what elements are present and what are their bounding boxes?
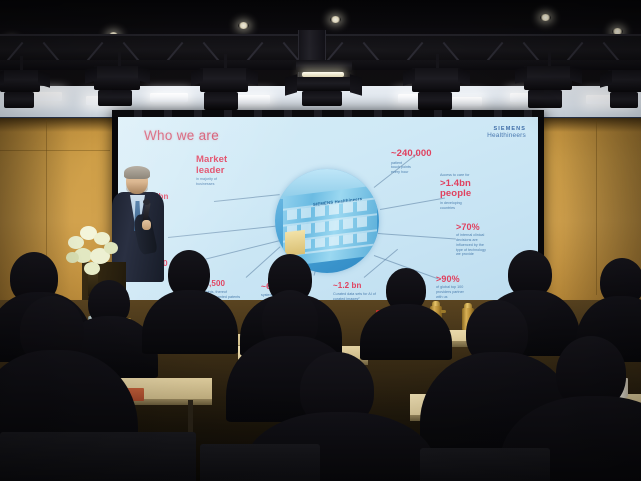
callout-value: Market leader — [196, 155, 227, 176]
ceiling-spot-light — [540, 14, 551, 21]
stage-light-fixture — [0, 70, 44, 106]
presenter-face-shading — [126, 182, 148, 194]
presenter-hair — [124, 166, 150, 179]
flower-cluster — [66, 252, 79, 263]
callout-value: >70% — [456, 222, 486, 232]
connector-line — [168, 225, 279, 238]
strip-light — [150, 93, 188, 102]
callout-clinical-decisions: >70%of internal clinical decisions are i… — [456, 222, 486, 257]
callout-description: in majority of businesses — [196, 177, 227, 187]
stage-light-fixture — [94, 66, 146, 106]
conference-photo-scene: Who we are SIEMENS Healthineers — [0, 0, 641, 481]
connector-line — [378, 233, 456, 239]
callout-access-to-care: Access to care for>1.4bn peoplein develo… — [440, 173, 471, 211]
callout-description: in developing countries — [440, 201, 471, 211]
stage-light-fixture-center — [296, 60, 358, 106]
building-entrance — [285, 230, 305, 256]
chair-back — [420, 448, 550, 481]
logo-line-healthineers: Healthineers — [487, 132, 526, 139]
callout-touch-points: ~240,000patient touch points every hour — [391, 149, 432, 175]
flower-cluster — [104, 242, 118, 254]
callout-curated-images: ~1.2 bnCurated data sets for AI of curat… — [333, 282, 376, 302]
stage-light-fixture — [524, 66, 576, 108]
slide-title: Who we are — [144, 128, 219, 143]
flower-arrangement — [66, 218, 122, 280]
callout-value: >1.4bn people — [440, 179, 471, 200]
presenter-hand — [142, 220, 151, 230]
flower-cluster — [84, 262, 100, 275]
callout-description: of internal clinical decisions are influ… — [456, 233, 486, 257]
connector-line — [214, 194, 280, 202]
ceiling-spot-light — [238, 22, 249, 29]
callout-description: of global top 100 providers partner with… — [436, 285, 464, 299]
ceiling-spot-light — [330, 16, 341, 23]
microphone-head-icon — [143, 199, 150, 205]
chair-back — [200, 444, 320, 481]
siemens-healthineers-logo: SIEMENS Healthineers — [487, 126, 526, 140]
callout-value: ~1.2 bn — [333, 282, 376, 291]
callout-value: >90% — [436, 274, 464, 284]
callout-description: patient touch points every hour — [391, 161, 432, 175]
stage-light-fixture — [412, 68, 464, 110]
screen-bezel — [112, 110, 544, 117]
table-leg — [188, 400, 193, 436]
chair-back — [0, 432, 196, 481]
callout-providers: >90%of global top 100 providers partner … — [436, 274, 464, 300]
stage-light-fixture — [608, 70, 641, 106]
stage-light-fixture — [200, 68, 252, 110]
callout-value: ~240,000 — [391, 149, 432, 160]
callout-market-leader: Market leaderin majority of businesses — [196, 155, 227, 187]
connector-line — [380, 198, 445, 210]
